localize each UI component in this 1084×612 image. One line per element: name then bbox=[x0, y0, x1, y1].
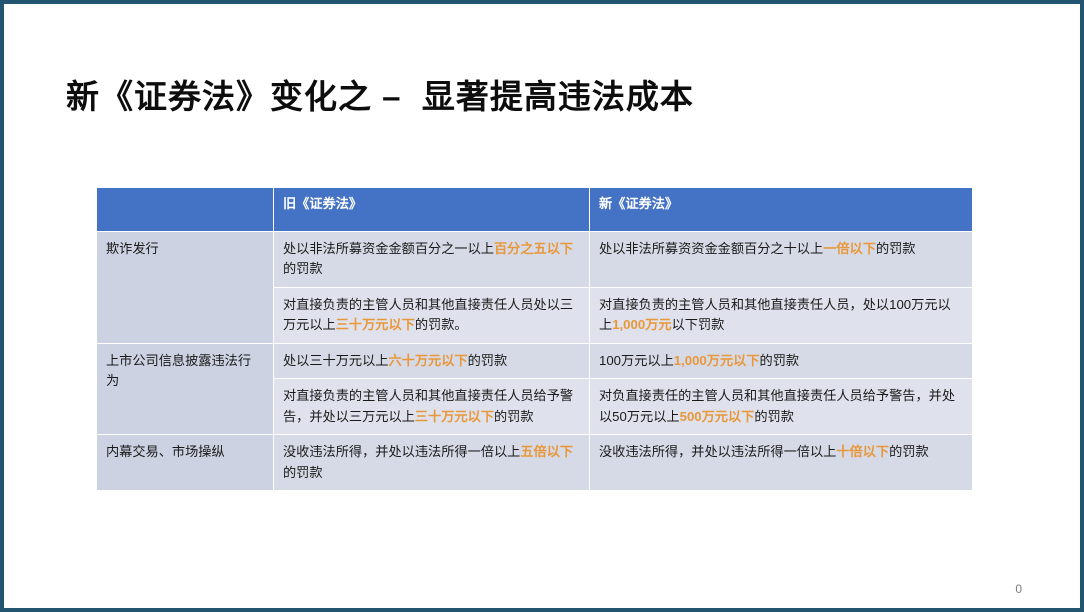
cell-text: 的罚款 bbox=[889, 444, 929, 459]
highlighted-amount: 500万元以下 bbox=[680, 409, 755, 424]
table-row: 上市公司信息披露违法行为处以三十万元以上六十万元以下的罚款100万元以上1,00… bbox=[97, 343, 973, 378]
cell-text: 的罚款。 bbox=[415, 317, 468, 332]
new-law-cell: 没收违法所得，并处以违法所得一倍以上十倍以下的罚款 bbox=[590, 435, 973, 491]
table-header-row: 旧《证券法》 新《证券法》 bbox=[97, 188, 973, 232]
comparison-table-container: 旧《证券法》 新《证券法》 欺诈发行处以非法所募资金金额百分之一以上百分之五以下… bbox=[96, 187, 972, 491]
highlighted-amount: 一倍以下 bbox=[823, 241, 876, 256]
highlighted-amount: 百分之五以下 bbox=[494, 241, 573, 256]
cell-text: 处以三十万元以上 bbox=[283, 353, 389, 368]
cell-text: 的罚款 bbox=[876, 241, 916, 256]
table-header: 旧《证券法》 新《证券法》 bbox=[97, 188, 973, 232]
old-law-cell: 对直接负责的主管人员和其他直接责任人员给予警告，并处以三万元以上三十万元以下的罚… bbox=[274, 379, 590, 435]
new-law-cell: 处以非法所募资资金金额百分之十以上一倍以下的罚款 bbox=[590, 232, 973, 288]
row-category-cell: 内幕交易、市场操纵 bbox=[97, 435, 274, 491]
old-law-cell: 处以三十万元以上六十万元以下的罚款 bbox=[274, 343, 590, 378]
highlighted-amount: 十倍以下 bbox=[836, 444, 889, 459]
column-header-old-law: 旧《证券法》 bbox=[274, 188, 590, 232]
new-law-cell: 对直接负责的主管人员和其他直接责任人员，处以100万元以上1,000万元以下罚款 bbox=[590, 287, 973, 343]
new-law-cell: 100万元以上1,000万元以下的罚款 bbox=[590, 343, 973, 378]
column-header-new-law: 新《证券法》 bbox=[590, 188, 973, 232]
cell-text: 处以非法所募资资金金额百分之十以上 bbox=[599, 241, 823, 256]
table-body: 欺诈发行处以非法所募资金金额百分之一以上百分之五以下的罚款处以非法所募资资金金额… bbox=[97, 232, 973, 491]
old-law-cell: 对直接负责的主管人员和其他直接责任人员处以三万元以上三十万元以下的罚款。 bbox=[274, 287, 590, 343]
cell-text: 的罚款 bbox=[283, 465, 323, 480]
cell-text: 以下罚款 bbox=[672, 317, 725, 332]
cell-text: 100万元以上 bbox=[599, 353, 674, 368]
old-law-cell: 没收违法所得，并处以违法所得一倍以上五倍以下的罚款 bbox=[274, 435, 590, 491]
column-header-category bbox=[97, 188, 274, 232]
cell-text: 没收违法所得，并处以违法所得一倍以上 bbox=[599, 444, 836, 459]
slide-canvas: 新《证券法》变化之 – 显著提高违法成本 旧《证券法》 新《证券法》 欺诈发行处… bbox=[0, 0, 1084, 612]
cell-text: 的罚款 bbox=[494, 409, 534, 424]
cell-text: 处以非法所募资金金额百分之一以上 bbox=[283, 241, 494, 256]
cell-text: 没收违法所得，并处以违法所得一倍以上 bbox=[283, 444, 520, 459]
highlighted-amount: 三十万元以下 bbox=[336, 317, 415, 332]
page-title: 新《证券法》变化之 – 显著提高违法成本 bbox=[66, 76, 694, 117]
row-category-cell: 欺诈发行 bbox=[97, 232, 274, 344]
highlighted-amount: 五倍以下 bbox=[520, 444, 573, 459]
new-law-cell: 对负直接责任的主管人员和其他直接责任人员给予警告，并处以50万元以上500万元以… bbox=[590, 379, 973, 435]
highlighted-amount: 1,000万元以下 bbox=[674, 353, 760, 368]
highlighted-amount: 六十万元以下 bbox=[389, 353, 468, 368]
cell-text: 的罚款 bbox=[754, 409, 794, 424]
highlighted-amount: 三十万元以下 bbox=[415, 409, 494, 424]
cell-text: 的罚款 bbox=[283, 261, 323, 276]
table-row: 欺诈发行处以非法所募资金金额百分之一以上百分之五以下的罚款处以非法所募资资金金额… bbox=[97, 232, 973, 288]
cell-text: 的罚款 bbox=[760, 353, 800, 368]
old-law-cell: 处以非法所募资金金额百分之一以上百分之五以下的罚款 bbox=[274, 232, 590, 288]
cell-text: 的罚款 bbox=[468, 353, 508, 368]
page-number: 0 bbox=[1015, 582, 1022, 596]
highlighted-amount: 1,000万元 bbox=[612, 317, 671, 332]
row-category-cell: 上市公司信息披露违法行为 bbox=[97, 343, 274, 434]
table-row: 内幕交易、市场操纵没收违法所得，并处以违法所得一倍以上五倍以下的罚款没收违法所得… bbox=[97, 435, 973, 491]
law-comparison-table: 旧《证券法》 新《证券法》 欺诈发行处以非法所募资金金额百分之一以上百分之五以下… bbox=[96, 187, 973, 491]
